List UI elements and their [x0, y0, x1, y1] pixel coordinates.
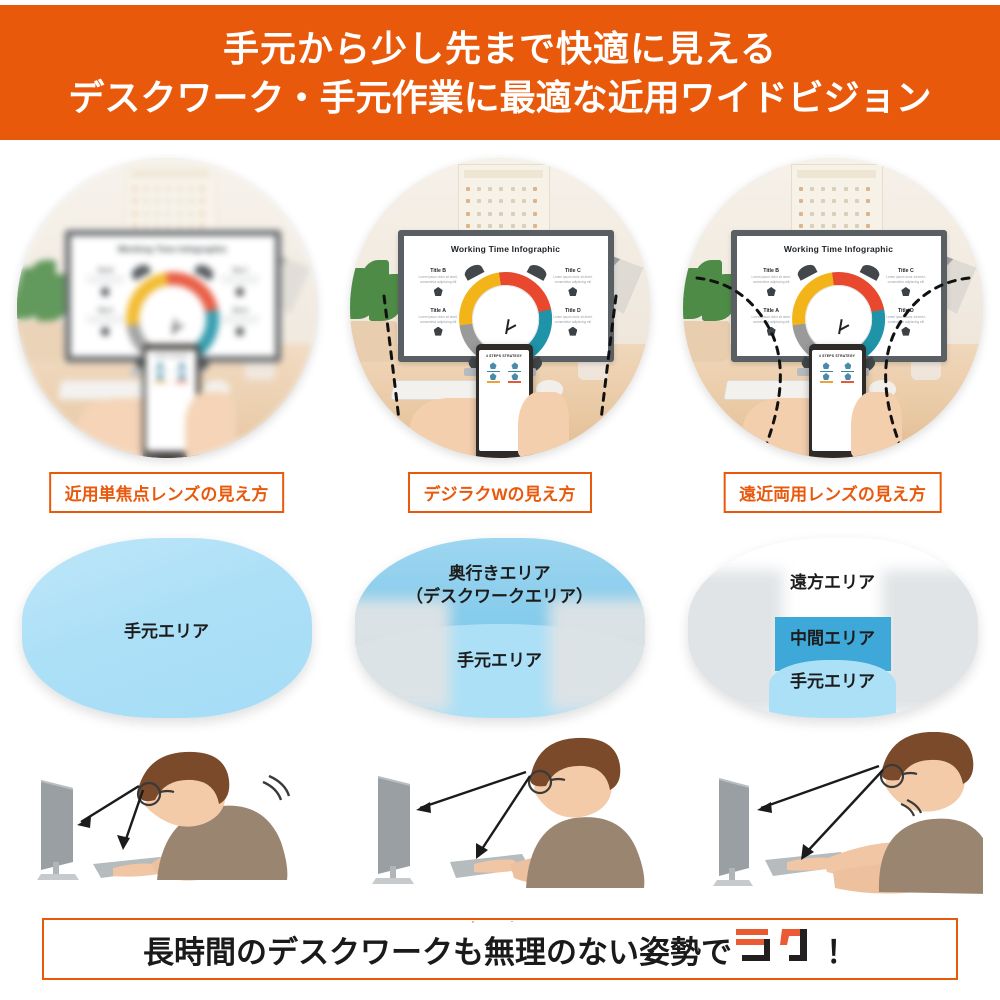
lens-diagram-0: 手元エリア — [22, 538, 312, 718]
caption-digi-raku-w: デジラクWの見え方 — [407, 472, 591, 513]
photo-circle-1: Working Time Infographic — [350, 158, 650, 458]
photo-circle-wrap-0: Working Time Infographic — [17, 158, 317, 458]
photo-circle-wrap-2: Working Time Infographic — [683, 158, 983, 458]
screen-label-c-2: Title C Lorem ipsum dolor sit amet, cons… — [879, 268, 932, 296]
person-svg-2 — [683, 732, 983, 902]
screen-label-b-2: Title B Lorem ipsum dolor sit amet, cons… — [745, 268, 798, 296]
person-illustration-chin-up — [683, 732, 983, 902]
screen-title-1: Working Time Infographic — [410, 244, 602, 254]
desk-scene-2: Working Time Infographic — [683, 158, 983, 458]
photo-circle-2: Working Time Infographic — [683, 158, 983, 458]
raku-logo — [734, 927, 820, 972]
screen-label-a-2: Title A Lorem ipsum dolor sit amet, cons… — [745, 308, 798, 336]
photo-circle-0: Working Time Infographic — [17, 158, 317, 458]
photo-circle-wrap-1: Working Time Infographic — [350, 158, 650, 458]
column-progressive: Working Time Infographic — [666, 150, 999, 1000]
lens-diagram-1: 奥行きエリア （デスクワークエリア） 手元エリア — [355, 538, 645, 718]
hand-right-2 — [851, 392, 902, 458]
screen-infographic-1: Working Time Infographic — [404, 236, 608, 356]
screen-title-2: Working Time Infographic — [743, 244, 935, 254]
person-svg-1 — [350, 732, 650, 902]
lens-zone-label-near-0: 手元エリア — [22, 621, 312, 644]
infographic-page: 手元から少し先まで快適に見える デスクワーク・手元作業に最適な近用ワイドビジョン — [0, 0, 1000, 1000]
screen-label-d-2: Title D Lorem ipsum dolor sit amet, cons… — [879, 308, 932, 336]
desk-scene-1: Working Time Infographic — [350, 158, 650, 458]
hand-right-1 — [518, 392, 569, 458]
bottom-banner-exclamation: ！ — [826, 927, 857, 972]
screen-infographic-2: Working Time Infographic — [737, 236, 941, 356]
person-svg-0 — [17, 732, 317, 902]
lens-zone-label-intermediate-2: 中間エリア — [688, 628, 978, 651]
bottom-banner: 長時間のデスクワークも無理のない姿勢で ！ — [42, 918, 958, 980]
screen-label-b-1: Title B Lorem ipsum dolor sit amet, cons… — [412, 268, 465, 296]
lens-zone-label-depth-1: 奥行きエリア （デスクワークエリア） — [355, 563, 645, 609]
screen-label-c-1: Title C Lorem ipsum dolor sit amet, cons… — [546, 268, 599, 296]
person-illustration-upright — [350, 732, 650, 902]
lens-zone-label-near-2: 手元エリア — [688, 671, 978, 694]
header-banner: 手元から少し先まで快適に見える デスクワーク・手元作業に最適な近用ワイドビジョン — [0, 5, 1000, 140]
caption-single-vision-near: 近用単焦点レンズの見え方 — [49, 472, 285, 513]
screen-label-a-1: Title A Lorem ipsum dolor sit amet, cons… — [412, 308, 465, 336]
screen-label-d-1: Title D Lorem ipsum dolor sit amet, cons… — [546, 308, 599, 336]
person-illustration-hunched — [17, 732, 317, 902]
bottom-banner-text: 長時間のデスクワークも無理のない姿勢で — [143, 927, 732, 972]
lens-shape-0: 手元エリア — [22, 538, 312, 718]
lens-shape-1: 奥行きエリア （デスクワークエリア） 手元エリア — [355, 538, 645, 718]
lens-zone-label-near-1: 手元エリア — [355, 650, 645, 673]
lens-zone-label-far-2: 遠方エリア — [688, 572, 978, 595]
comparison-columns: Working Time Infographic — [0, 150, 1000, 1000]
header-line-2: デスクワーク・手元作業に最適な近用ワイドビジョン — [68, 75, 931, 120]
phone-title-1: 4 STEPS STRATEGY — [479, 354, 528, 358]
lens-diagram-2: 遠方エリア 中間エリア 手元エリア — [688, 538, 978, 718]
monitor-1: Working Time Infographic — [398, 230, 614, 362]
raku-logo-svg — [734, 927, 820, 967]
phone-title-2: 4 STEPS STRATEGY — [812, 354, 861, 358]
header-line-1: 手元から少し先まで快適に見える — [223, 26, 777, 71]
clear-zone-0 — [137, 338, 209, 458]
monitor-2: Working Time Infographic — [731, 230, 947, 362]
column-single-vision-near: Working Time Infographic — [0, 150, 333, 1000]
lens-shape-2: 遠方エリア 中間エリア 手元エリア — [688, 538, 978, 718]
caption-progressive: 遠近両用レンズの見え方 — [723, 472, 942, 513]
column-digi-raku-w: Working Time Infographic — [333, 150, 666, 1000]
